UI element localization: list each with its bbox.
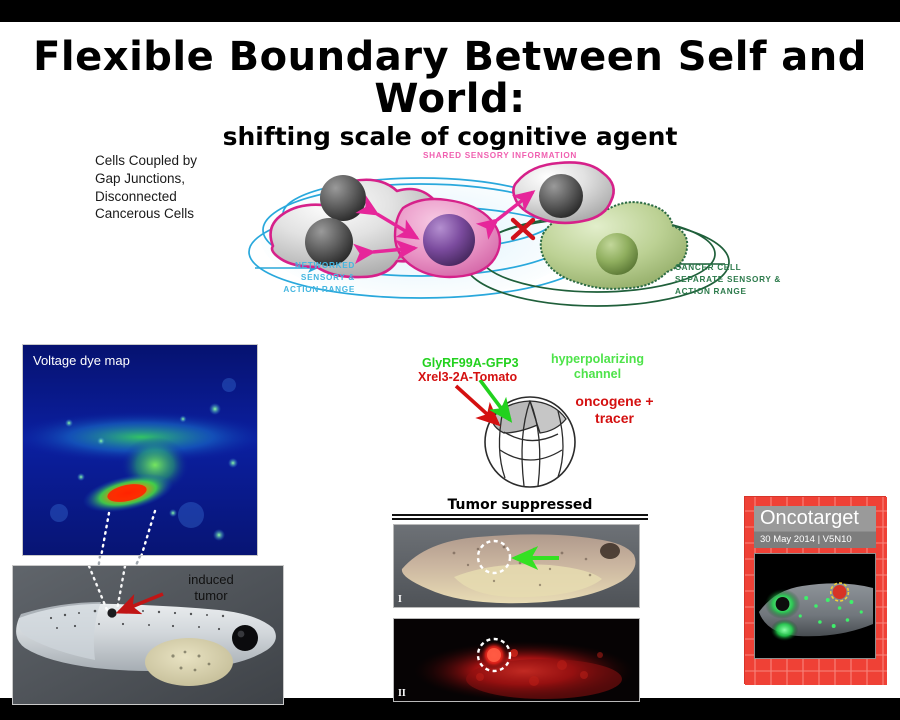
construct-label-green: GlyRF99A-GFP3 (422, 356, 519, 371)
tumor-suppressed-header: Tumor suppressed (395, 497, 645, 513)
hyper-line-1: hyperpolarizing (545, 352, 650, 367)
cover-tadpole-fluorescence (755, 554, 875, 658)
networked-line-3: ACTION RANGE (225, 284, 355, 296)
cover-title-bar: Oncotarget (754, 506, 876, 531)
induced-line-2: tumor (165, 588, 257, 604)
label-networked-range: NETWORKED SENSORY & ACTION RANGE (225, 260, 355, 296)
networked-line-1: NETWORKED (225, 260, 355, 272)
cell-coupling-diagram: SHARED SENSORY INFORMATION NETWORKED SEN… (225, 142, 825, 322)
panel-I-image (394, 525, 640, 608)
slide-root: Flexible Boundary Between Self and World… (0, 0, 900, 720)
cover-issue: 30 May 2014 | V5N10 (760, 534, 870, 545)
slide-canvas: Flexible Boundary Between Self and World… (0, 22, 900, 698)
networked-line-2: SENSORY & (225, 272, 355, 284)
panel-tag-II: II (398, 688, 406, 699)
cover-title: Oncotarget (760, 508, 870, 528)
page-title: Flexible Boundary Between Self and World… (0, 36, 900, 150)
cover-image (754, 553, 876, 659)
voltage-dye-map-panel: Voltage dye map (22, 344, 258, 556)
label-shared-sensory: SHARED SENSORY INFORMATION (400, 150, 600, 162)
divider-rule-top (392, 514, 648, 516)
hyperpolarizing-channel-label: hyperpolarizing channel (545, 352, 650, 382)
cancer-line-3: ACTION RANGE (675, 286, 815, 298)
panel-fluorescence: II (393, 618, 640, 702)
title-main: Flexible Boundary Between Self and World… (0, 36, 900, 120)
induced-line-1: induced (165, 572, 257, 588)
letterbox-top (0, 0, 900, 22)
panel-brightfield: I (393, 524, 640, 608)
cancer-line-1: CANCER CELL (675, 262, 815, 274)
cover-inner: Oncotarget 30 May 2014 | V5N10 (754, 506, 876, 674)
divider-rule-bottom (392, 518, 648, 520)
label-cancer-range: CANCER CELL SEPARATE SENSORY & ACTION RA… (675, 262, 815, 298)
panel-tag-I: I (398, 594, 402, 605)
oncotarget-journal-cover: Oncotarget 30 May 2014 | V5N10 (744, 496, 886, 684)
voltage-dye-map-label: Voltage dye map (33, 353, 130, 368)
cancer-line-2: SEPARATE SENSORY & (675, 274, 815, 286)
induced-tumor-label: induced tumor (165, 572, 257, 605)
voltage-map-image (23, 345, 258, 556)
cover-issue-bar: 30 May 2014 | V5N10 (754, 531, 876, 548)
panel-II-image (394, 619, 640, 702)
embryo-schematic (440, 380, 620, 502)
